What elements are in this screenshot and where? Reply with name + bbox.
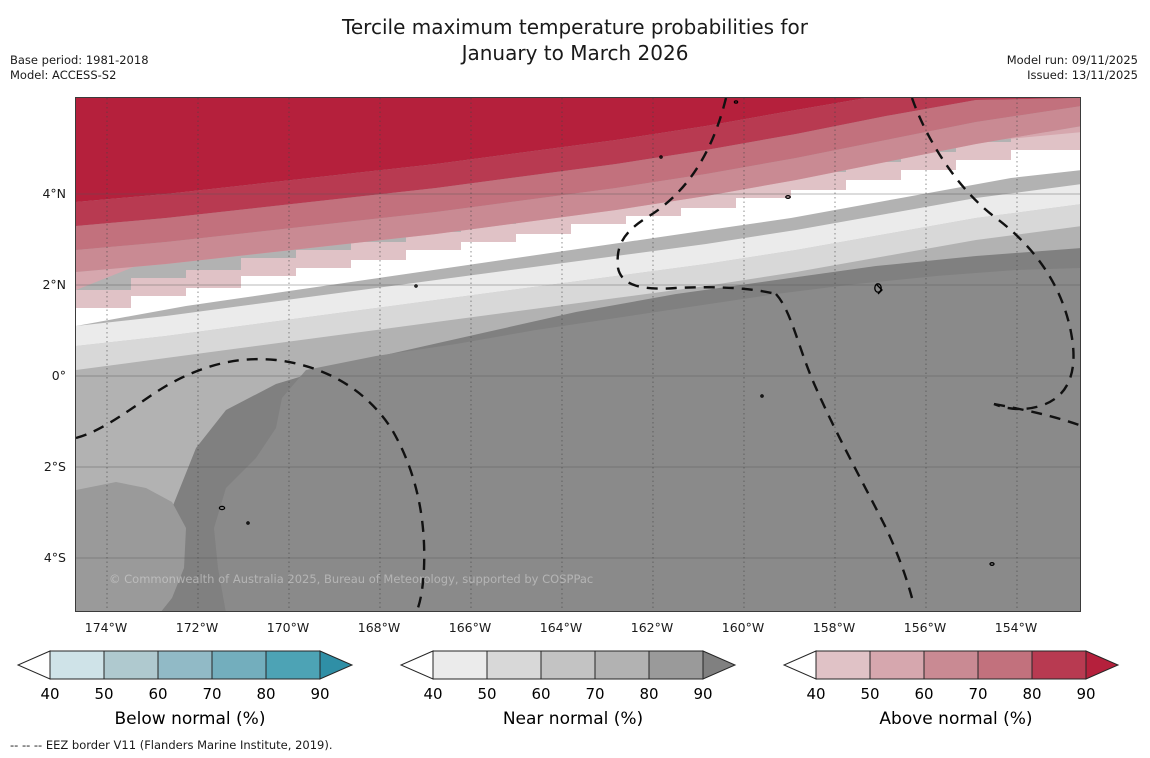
ytick-label-2n: 2°N — [0, 277, 66, 292]
colorbar-cell — [212, 651, 266, 679]
issued-text: Issued: 13/11/2025 — [1007, 68, 1138, 83]
base-period-text: Base period: 1981-2018 — [10, 53, 149, 68]
colorbar-cell — [50, 651, 104, 679]
colorbar-tick-label: 60 — [914, 685, 933, 703]
ytick-label-2s: 2°S — [0, 459, 66, 474]
ytick-label-0: 0° — [0, 368, 66, 383]
colorbar-cell — [541, 651, 595, 679]
colorbar-under-arrow — [18, 651, 50, 679]
colorbar-below-normal[interactable]: 405060708090 Below normal (%) — [10, 648, 370, 729]
colorbar-under-arrow — [784, 651, 816, 679]
model-text: Model: ACCESS-S2 — [10, 68, 149, 83]
colorbar-cell — [266, 651, 320, 679]
xtick-label-162w: 162°W — [631, 620, 673, 635]
colorbar-tick-label: 60 — [531, 685, 550, 703]
colorbar-cell — [595, 651, 649, 679]
ytick-label-4n: 4°N — [0, 186, 66, 201]
xtick-label-172w: 172°W — [176, 620, 218, 635]
colorbar-near-normal[interactable]: 405060708090 Near normal (%) — [393, 648, 753, 729]
colorbar-below-normal-ticks: 405060708090 — [10, 685, 370, 705]
eez-footnote: -- -- -- EEZ border V11 (Flanders Marine… — [10, 738, 332, 752]
colorbar-near-normal-swatches — [393, 648, 753, 684]
xtick-label-154w: 154°W — [995, 620, 1037, 635]
model-run-text: Model run: 09/11/2025 — [1007, 53, 1138, 68]
ytick-label-4s: 4°S — [0, 550, 66, 565]
colorbar-cell — [433, 651, 487, 679]
colorbar-tick-label: 90 — [1076, 685, 1095, 703]
map-contour-plot — [76, 98, 1081, 612]
colorbar-tick-label: 70 — [585, 685, 604, 703]
colorbar-over-arrow — [1086, 651, 1118, 679]
colorbar-cell — [158, 651, 212, 679]
colorbar-above-normal-ticks: 405060708090 — [776, 685, 1136, 705]
colorbar-tick-label: 70 — [202, 685, 221, 703]
colorbar-cell — [487, 651, 541, 679]
colorbar-near-normal-title: Near normal (%) — [393, 709, 753, 729]
page-title: Tercile maximum temperature probabilitie… — [0, 14, 1150, 66]
colorbar-cell — [1032, 651, 1086, 679]
colorbar-tick-label: 50 — [94, 685, 113, 703]
metadata-right: Model run: 09/11/2025 Issued: 13/11/2025 — [1007, 53, 1138, 83]
colorbar-below-normal-swatches — [10, 648, 370, 684]
colorbar-tick-label: 40 — [40, 685, 59, 703]
xtick-label-164w: 164°W — [540, 620, 582, 635]
title-line-2: January to March 2026 — [0, 40, 1150, 66]
colorbar-tick-label: 60 — [148, 685, 167, 703]
metadata-left: Base period: 1981-2018 Model: ACCESS-S2 — [10, 53, 149, 83]
xtick-label-168w: 168°W — [358, 620, 400, 635]
colorbar-near-normal-ticks: 405060708090 — [393, 685, 753, 705]
colorbar-tick-label: 40 — [423, 685, 442, 703]
colorbar-tick-label: 80 — [1022, 685, 1041, 703]
colorbar-tick-label: 80 — [256, 685, 275, 703]
colorbar-tick-label: 80 — [639, 685, 658, 703]
xtick-label-170w: 170°W — [267, 620, 309, 635]
map-panel[interactable]: © Commonwealth of Australia 2025, Bureau… — [75, 97, 1081, 612]
colorbar-tick-label: 50 — [477, 685, 496, 703]
xtick-label-174w: 174°W — [85, 620, 127, 635]
colorbar-cell — [870, 651, 924, 679]
colorbar-cell — [924, 651, 978, 679]
colorbar-cell — [104, 651, 158, 679]
colorbar-below-normal-title: Below normal (%) — [10, 709, 370, 729]
colorbar-cell — [649, 651, 703, 679]
xtick-label-156w: 156°W — [904, 620, 946, 635]
xtick-label-166w: 166°W — [449, 620, 491, 635]
colorbar-above-normal-title: Above normal (%) — [776, 709, 1136, 729]
title-line-1: Tercile maximum temperature probabilitie… — [0, 14, 1150, 40]
colorbar-tick-label: 90 — [310, 685, 329, 703]
colorbar-under-arrow — [401, 651, 433, 679]
colorbar-over-arrow — [320, 651, 352, 679]
xtick-label-158w: 158°W — [813, 620, 855, 635]
colorbar-above-normal-swatches — [776, 648, 1136, 684]
colorbar-cell — [978, 651, 1032, 679]
band-near-normal-80-90 — [76, 482, 186, 612]
colorbar-tick-label: 50 — [860, 685, 879, 703]
colorbar-cell — [816, 651, 870, 679]
colorbar-over-arrow — [703, 651, 735, 679]
colorbar-above-normal[interactable]: 405060708090 Above normal (%) — [776, 648, 1136, 729]
colorbar-tick-label: 90 — [693, 685, 712, 703]
colorbar-tick-label: 40 — [806, 685, 825, 703]
xtick-label-160w: 160°W — [722, 620, 764, 635]
colorbar-tick-label: 70 — [968, 685, 987, 703]
